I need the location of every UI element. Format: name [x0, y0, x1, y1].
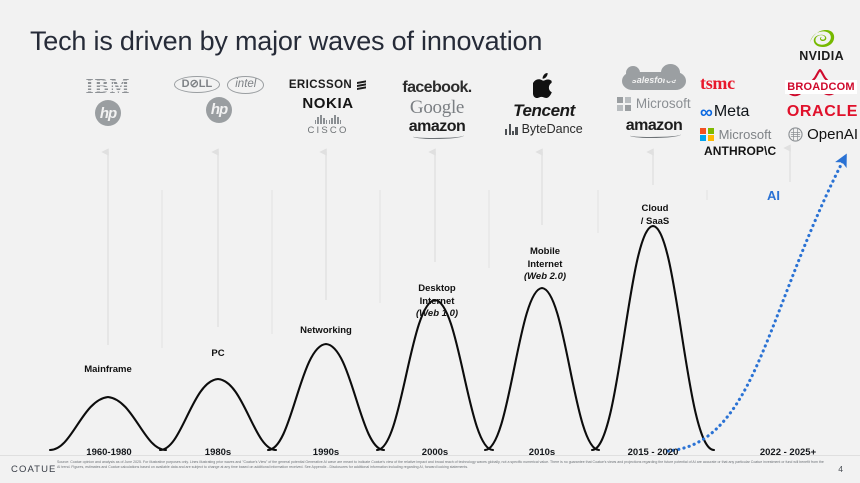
microsoft-logo: Microsoft [617, 97, 690, 111]
microsoft-label: Microsoft [636, 97, 691, 111]
wave-curve-desktop-internet [377, 300, 493, 450]
nvidia-label: NVIDIA [799, 49, 844, 63]
broadcom-label: BROADCOM [785, 80, 857, 94]
amazon-logo: amazon [626, 118, 683, 134]
footer-divider [0, 455, 860, 456]
nvidia-logo: NVIDIA [799, 28, 844, 63]
meta-label: Meta [714, 104, 750, 120]
ericsson-logo: ERICSSON [289, 80, 367, 92]
wave-label-desktop-internet: Desktop Internet (Web 1.0) [396, 283, 478, 321]
ericsson-label: ERICSSON [289, 80, 352, 92]
google-logo: Google [410, 98, 464, 117]
wave-label-pc: PC [180, 348, 256, 361]
wave-curve-pc [160, 379, 276, 450]
logo-group-networking: ERICSSON NOKIA CISCO [280, 80, 376, 136]
bytedance-mark-icon [505, 124, 517, 135]
tsmc-logo: tsmc [700, 74, 735, 92]
hp-logo: hp [95, 100, 121, 126]
x-axis-label-1990s: 1990s [286, 447, 366, 458]
page-number: 4 [838, 464, 843, 474]
x-axis-label-2022-2025: 2022 - 2025+ [738, 447, 838, 458]
facebook-logo: facebook. [402, 80, 471, 96]
wave-curve-mainframe [50, 397, 166, 450]
logo-group-ai: NVIDIA tsmc BROADCOM ∞ Meta ORACLE [700, 28, 858, 157]
oracle-logo: ORACLE [787, 104, 858, 120]
openai-label: OpenAI [807, 127, 858, 142]
wave-curve-cloud-saas [592, 226, 714, 450]
cisco-bars-icon [315, 115, 342, 124]
tencent-logo: Tencent [513, 102, 575, 119]
page-title: Tech is driven by major waves of innovat… [30, 26, 542, 57]
wave-curve-networking [268, 344, 384, 450]
bytedance-logo: ByteDance [505, 123, 582, 136]
hp-logo: hp [206, 97, 232, 123]
salesforce-logo: salesforce [622, 72, 687, 90]
amazon-swoosh-icon [413, 133, 464, 139]
source-note: Source: Coatue opinion and analysis as o… [57, 460, 827, 470]
logo-group-desktop-internet: facebook. Google amazon [392, 80, 482, 135]
ai-trend-label: AI [767, 188, 780, 203]
x-axis-label-1980s: 1980s [178, 447, 258, 458]
cisco-logo: CISCO [307, 115, 348, 136]
broadcom-logo: BROADCOM [784, 69, 858, 97]
coatue-logo: COATUE [11, 464, 56, 475]
x-axis-label-2000s: 2000s [395, 447, 475, 458]
logo-group-cloud-saas: salesforce Microsoft amazon [608, 72, 700, 134]
nokia-logo: NOKIA [302, 96, 353, 111]
amazon-logo: amazon [409, 119, 466, 135]
wave-curve-mobile-internet [485, 288, 599, 450]
ericsson-mark-icon [356, 80, 367, 92]
innovation-wave-curves [50, 226, 714, 450]
x-axis-label-2010s: 2010s [502, 447, 582, 458]
bytedance-label: ByteDance [522, 123, 583, 136]
intel-logo: intel [227, 76, 264, 94]
x-axis-label-1960-1980: 1960-1980 [64, 447, 154, 458]
apple-logo [533, 72, 555, 98]
meta-logo: ∞ Meta [700, 103, 749, 121]
microsoft-squares-icon [700, 128, 714, 142]
microsoft-logo: Microsoft [700, 128, 771, 142]
wave-label-cloud-saas: Cloud / SaaS [614, 203, 696, 228]
wave-label-mainframe: Mainframe [60, 364, 156, 377]
openai-logo: OpenAI [788, 127, 858, 142]
wave-label-networking: Networking [278, 325, 374, 338]
meta-infinity-icon: ∞ [700, 103, 710, 121]
slide-canvas: Tech is driven by major waves of innovat… [0, 0, 860, 483]
microsoft-label: Microsoft [719, 128, 772, 141]
logo-group-mainframe: IBM hp [68, 76, 148, 126]
x-axis-label-2015-2020: 2015 - 2020 [606, 447, 700, 458]
logo-group-pc: D⊘LL intel hp [176, 76, 262, 123]
wave-label-mobile-internet: Mobile Internet (Web 2.0) [504, 246, 586, 284]
logo-group-mobile-internet: Tencent ByteDance [498, 72, 590, 136]
openai-knot-icon [788, 127, 803, 142]
ibm-logo: IBM [86, 76, 131, 97]
cisco-label: CISCO [307, 125, 348, 136]
amazon-swoosh-icon [630, 132, 681, 138]
ai-trend-curve [668, 157, 845, 451]
nvidia-eye-icon [807, 28, 837, 49]
microsoft-squares-icon [617, 97, 631, 111]
dell-logo: D⊘LL [174, 76, 221, 93]
anthropic-logo: ANTHROP\C [704, 145, 776, 157]
